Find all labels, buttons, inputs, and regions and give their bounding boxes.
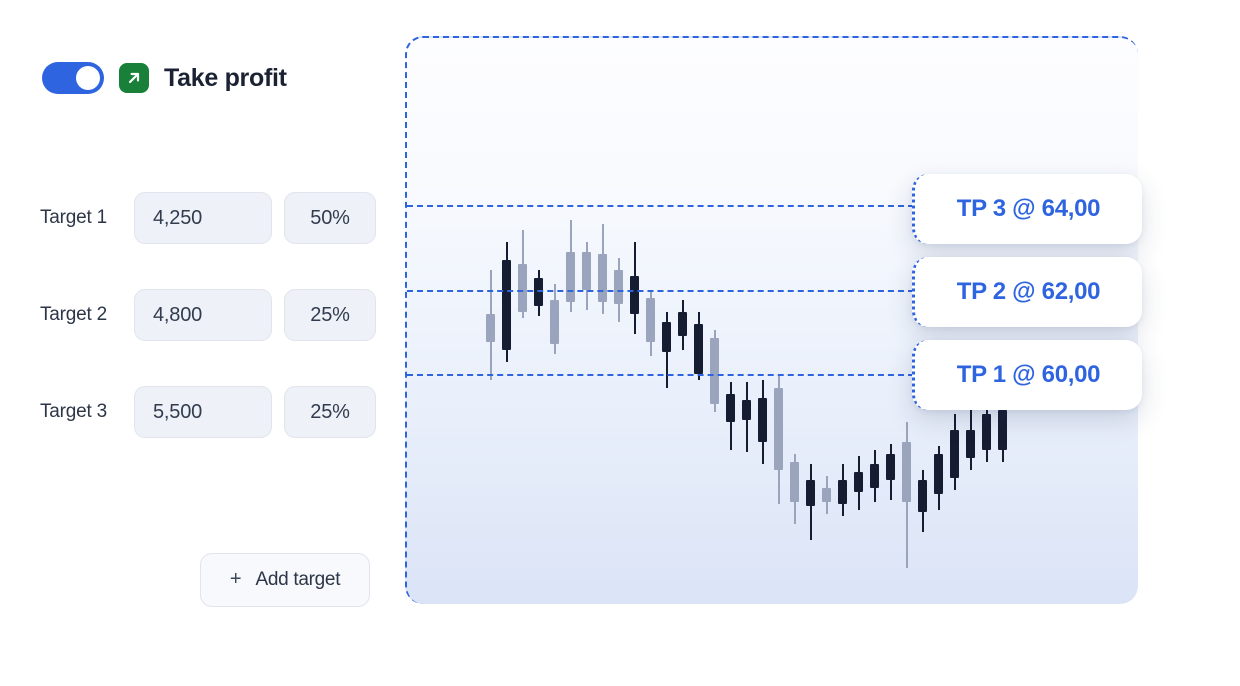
- page-title: Take profit: [164, 64, 287, 93]
- take-profit-settings-panel: Take profit Target 1 4,250 50% Target 2 …: [0, 0, 400, 686]
- candle-body: [646, 298, 655, 342]
- candle-body: [934, 454, 943, 494]
- candle-body: [662, 322, 671, 352]
- candle-body: [598, 254, 607, 302]
- tp-label-card[interactable]: TP 2 @ 62,00: [912, 257, 1142, 327]
- candle-body: [790, 462, 799, 502]
- tp-label-card[interactable]: TP 1 @ 60,00: [912, 340, 1142, 410]
- candle-body: [678, 312, 687, 336]
- candle-body: [838, 480, 847, 504]
- tp-level-line: [407, 290, 914, 292]
- take-profit-header: Take profit: [42, 62, 287, 94]
- candle-body: [854, 472, 863, 492]
- target-label: Target 3: [40, 401, 130, 423]
- candle-body: [582, 252, 591, 290]
- target-percent-input[interactable]: 25%: [284, 289, 376, 341]
- target-row: Target 3 5,500 25%: [40, 386, 376, 438]
- target-row: Target 2 4,800 25%: [40, 289, 376, 341]
- candle-body: [694, 324, 703, 374]
- target-percent-input[interactable]: 50%: [284, 192, 376, 244]
- candle-body: [726, 394, 735, 422]
- target-percent-input[interactable]: 25%: [284, 386, 376, 438]
- add-target-button[interactable]: + Add target: [200, 553, 370, 607]
- candle-body: [774, 388, 783, 470]
- candle-body: [710, 338, 719, 404]
- target-label: Target 1: [40, 207, 130, 229]
- target-price-input[interactable]: 4,800: [134, 289, 272, 341]
- candle-body: [486, 314, 495, 342]
- candle-body: [902, 442, 911, 502]
- candle-body: [758, 398, 767, 442]
- candle-body: [870, 464, 879, 488]
- candle-body: [518, 264, 527, 312]
- candle-body: [886, 454, 895, 480]
- candle-body: [502, 260, 511, 350]
- plus-icon: +: [230, 569, 242, 589]
- tp-label-text: TP 1 @ 60,00: [957, 361, 1100, 389]
- candle-body: [966, 430, 975, 458]
- candle-body: [806, 480, 815, 506]
- candle-body: [950, 430, 959, 478]
- take-profit-toggle[interactable]: [42, 62, 104, 94]
- candle-body: [534, 278, 543, 306]
- candle-body: [550, 300, 559, 344]
- tp-label-text: TP 3 @ 64,00: [957, 195, 1100, 223]
- target-label: Target 2: [40, 304, 130, 326]
- candle-body: [630, 276, 639, 314]
- target-row: Target 1 4,250 50%: [40, 192, 376, 244]
- target-price-input[interactable]: 5,500: [134, 386, 272, 438]
- target-price-input[interactable]: 4,250: [134, 192, 272, 244]
- candle-body: [982, 414, 991, 450]
- candle-body: [566, 252, 575, 302]
- toggle-knob: [76, 66, 100, 90]
- tp-level-line: [407, 205, 914, 207]
- tp-label-text: TP 2 @ 62,00: [957, 278, 1100, 306]
- page-card: Take profit Target 1 4,250 50% Target 2 …: [0, 0, 1240, 686]
- candle-body: [742, 400, 751, 420]
- tp-level-line: [407, 374, 914, 376]
- add-target-label: Add target: [256, 569, 341, 591]
- tp-label-card[interactable]: TP 3 @ 64,00: [912, 174, 1142, 244]
- candle-body: [822, 488, 831, 502]
- candle-body: [918, 480, 927, 512]
- arrow-up-right-icon: [119, 63, 149, 93]
- candle-body: [614, 270, 623, 304]
- candle-body: [998, 410, 1007, 450]
